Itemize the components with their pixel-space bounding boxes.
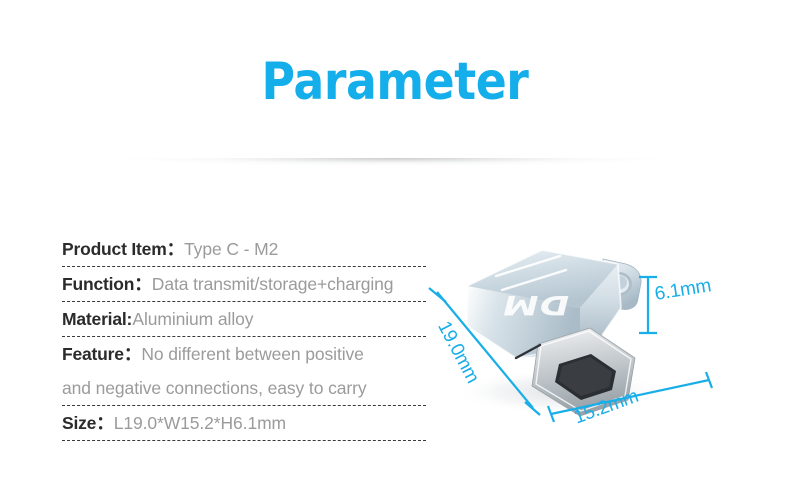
spec-value-product-item: Type C - M2	[184, 239, 278, 259]
spec-value-feature-continuation: and negative connections, easy to carry	[62, 371, 426, 405]
spec-label-material: Material	[62, 309, 127, 329]
spec-value-material: Aluminium alloy	[132, 309, 253, 329]
spec-colon: ：	[167, 239, 185, 259]
spec-line: Product Item：Type C - M2	[62, 232, 426, 266]
spec-label-product-item: Product Item	[62, 239, 167, 259]
page-title: Parameter	[47, 52, 742, 112]
spec-colon: ：	[124, 344, 142, 364]
spec-colon: ：	[134, 274, 152, 294]
spec-value-size: L19.0*W15.2*H6.1mm	[114, 413, 286, 433]
spec-label-size: Size	[62, 413, 96, 433]
spec-colon: ：	[96, 413, 114, 433]
product-illustration: DM	[420, 240, 790, 455]
spec-row-product-item: Product Item：Type C - M2	[62, 232, 426, 266]
spec-value-feature: No different between positive	[141, 344, 363, 364]
page-header: Parameter	[0, 0, 790, 170]
spec-row-material: Material:Aluminium alloy	[62, 302, 426, 336]
spec-line: Feature：No different between positive	[62, 337, 426, 371]
spec-line: Size：L19.0*W15.2*H6.1mm	[62, 406, 426, 440]
spec-label-feature: Feature	[62, 344, 124, 364]
spec-separator	[62, 440, 426, 441]
spec-label-function: Function	[62, 274, 134, 294]
spec-row-size: Size：L19.0*W15.2*H6.1mm	[62, 406, 426, 440]
spec-value-function: Data transmit/storage+charging	[152, 274, 394, 294]
product-figure: DM	[420, 240, 790, 455]
spec-line: Function：Data transmit/storage+charging	[62, 267, 426, 301]
spec-row-feature: Feature：No different between positive an…	[62, 337, 426, 405]
dm-logo: DM	[498, 289, 573, 320]
header-shadow-divider	[118, 158, 672, 174]
spec-line: Material:Aluminium alloy	[62, 302, 426, 336]
spec-row-function: Function：Data transmit/storage+charging	[62, 267, 426, 301]
specification-list: Product Item：Type C - M2 Function：Data t…	[62, 232, 426, 441]
svg-text:DM: DM	[498, 289, 573, 320]
